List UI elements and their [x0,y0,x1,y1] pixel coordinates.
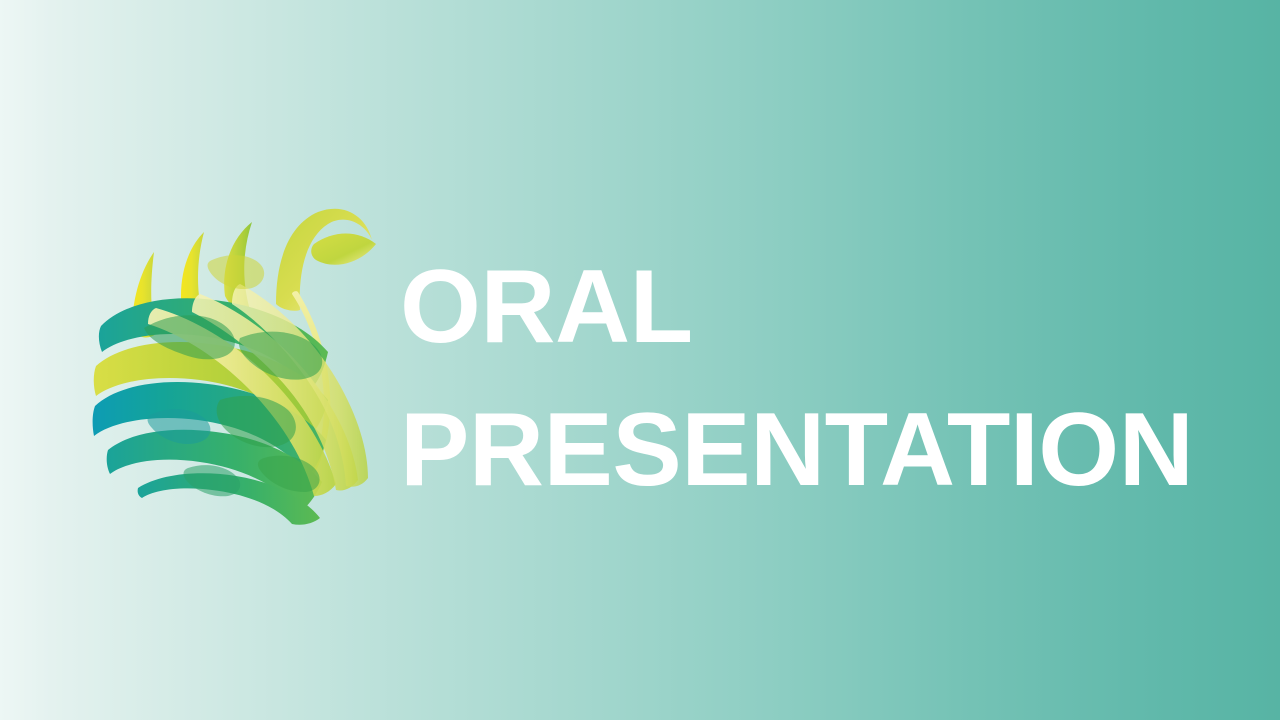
title-slide: ORAL PRESENTATION [0,0,1280,720]
title-line-presentation: PRESENTATION [400,379,1200,522]
globe-logo [92,200,392,525]
slide-title: ORAL PRESENTATION [400,236,1200,522]
title-line-oral: ORAL [400,236,1200,379]
